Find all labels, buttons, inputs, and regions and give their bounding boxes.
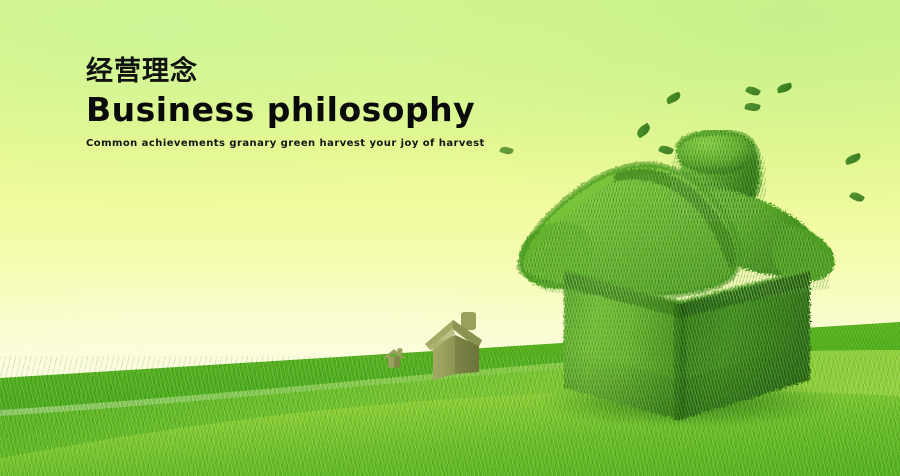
grass-house: [498, 130, 848, 430]
far-house-small: [379, 340, 409, 370]
page-title-en: Business philosophy: [86, 90, 485, 130]
far-house-large: [418, 305, 490, 383]
page-title-cn: 经营理念: [86, 57, 485, 87]
eco-banner: 经营理念 Business philosophy Common achievem…: [0, 0, 900, 476]
headline-block: 经营理念 Business philosophy Common achievem…: [86, 57, 485, 150]
tagline: Common achievements granary green harves…: [86, 137, 485, 150]
